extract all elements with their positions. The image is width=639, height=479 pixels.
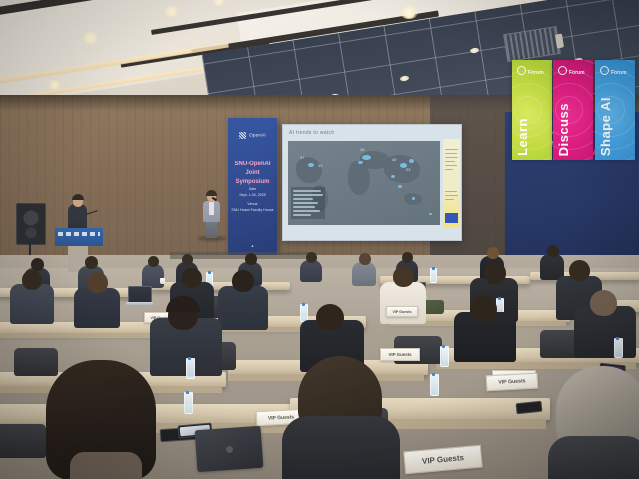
presenter-hair [206,190,217,196]
forum-logo-discuss: Forum [558,66,585,76]
podium-lectern [55,228,103,246]
downlight [48,80,61,90]
chair [0,424,46,458]
forum-panel-shape-ai: Forum Shape AI [595,60,635,160]
water-bottle [184,392,193,414]
openai-wordmark: OpenAI [249,133,266,138]
water-bottle [430,374,439,396]
vip-name-card: VIP Guests [380,348,420,361]
map-datapoint [398,185,402,188]
map-datapoint [391,175,395,178]
banner-title-line1: SNU-OpenAI [228,160,277,169]
map-landmass [384,155,420,183]
vip-name-card: VIP Guests [486,373,539,392]
presenter-shirt [209,202,214,215]
vip-name-card: VIP Guests [386,306,418,317]
banner-logo-row: OpenAI [228,132,277,139]
audience-person-body [300,260,322,282]
map-datapoint [429,213,432,215]
audience-person-head [402,252,413,263]
panel-label-learn: Learn [515,118,530,156]
foreground-person-shoulders [70,452,142,479]
banner-snu-openai-symposium: OpenAI SNU-OpenAI Joint Symposium Date S… [228,118,277,256]
paper-cup [160,278,165,284]
foreground-person-grey-hair [556,366,639,446]
projection-screen: AI trends to watch 37 12 40 23 15 [282,124,462,241]
forum-logo-learn: Forum [517,66,544,76]
audience-person-head [85,256,98,269]
presenter-legs [206,221,217,238]
audience-person-head [182,268,202,288]
audience-person-head [87,272,108,293]
downlight [164,6,179,17]
audience-person-body [380,282,426,324]
audience-person-head [306,252,317,263]
slide-title: AI trends to watch [289,130,334,136]
audience-person-head [359,253,371,265]
audience-person-head [245,253,257,265]
downlight [82,32,99,44]
map-datapoint [358,161,363,164]
presenter [203,192,220,238]
audience-person-head [393,266,414,287]
banner-title-line2: Joint Symposium [228,169,277,187]
panel-label-discuss: Discuss [556,103,571,156]
audience-person-body [142,264,164,288]
audience-person-head [590,290,617,316]
foreground-person-body [548,436,639,479]
map-value-label: 37 [300,155,304,160]
forum-logo-shape: Forum [600,66,627,76]
map-datapoint [412,197,415,200]
audience-person-head [470,296,497,322]
audience-person-head [232,270,254,292]
forum-circle-icon [600,66,609,75]
audience-person-head [148,256,159,267]
banner-footer-crest-icon: ▲ [228,243,277,248]
map-value-label: 12 [318,163,322,168]
water-bottle [186,358,195,379]
audience-person-body [352,262,376,286]
audience-person-body [74,288,120,328]
slide-openai-tag [445,213,458,223]
chair [14,348,58,376]
audience-person-head [182,254,193,265]
podium-logo-strip [58,232,100,236]
map-datapoint [362,155,371,160]
pa-speaker [16,203,46,245]
foreground-person-body [282,416,400,479]
desk-edge [0,333,173,338]
map-value-label: 15 [360,147,364,152]
audience-person-head [569,260,590,281]
forum-circle-icon [517,66,526,75]
map-datapoint [308,163,314,167]
podium-occupant-hair [72,194,84,200]
slide-info-card [443,139,460,227]
snu-logo-icon [239,132,246,139]
conference-photo-scene: OpenAI SNU-OpenAI Joint Symposium Date S… [0,0,639,479]
water-bottle [614,338,623,358]
water-bottle [440,346,449,367]
audience-person-head [484,262,506,284]
water-bottle [430,268,437,283]
forum-panel-discuss: Forum Discuss [553,60,593,160]
banner-details: Date Sept. 1-30, 2025 Venue SNU Hoam Fac… [228,186,277,213]
podium-occupant-body [68,204,87,231]
map-value-label: 23 [406,167,410,172]
slide-world-map: 37 12 40 23 15 [288,141,440,225]
panel-label-shape-ai: Shape AI [598,97,613,156]
map-datapoint [409,159,414,163]
audience-person-head [22,270,42,290]
banner-title: SNU-OpenAI Joint Symposium [228,160,277,187]
audience-person-head [316,304,344,331]
slide-stat-block [291,187,325,219]
audience-person-body [218,286,268,330]
laptop-closed[interactable] [195,426,264,473]
forum-panel-learn: Forum Learn [512,60,552,160]
map-value-label: 40 [392,157,396,162]
laptop-keyboard [126,302,153,305]
downlight [400,6,418,19]
forum-circle-icon [558,66,567,75]
map-landmass [296,157,322,183]
audience-person-head [487,247,499,259]
banner-venue-value: SNU Hoam Faculty House [228,207,277,213]
audience-person-head [547,245,559,257]
audience-person-body [10,284,54,324]
